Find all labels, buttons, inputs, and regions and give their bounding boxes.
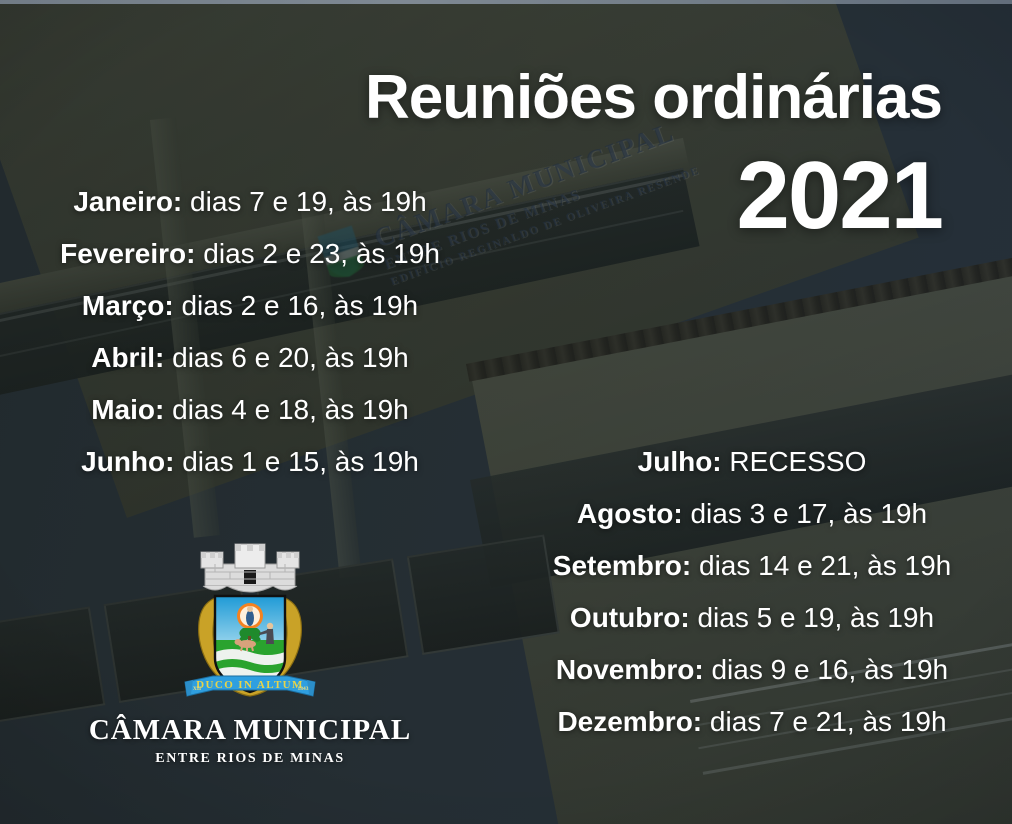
month-label: Outubro: xyxy=(570,602,690,633)
institution-subtitle: ENTRE RIOS DE MINAS xyxy=(0,751,500,767)
svg-text:1843: 1843 xyxy=(298,686,309,692)
month-label: Setembro: xyxy=(553,550,691,581)
month-detail: dias 4 e 18, às 19h xyxy=(172,394,409,425)
month-label: Março: xyxy=(82,290,174,321)
month-detail: dias 7 e 21, às 19h xyxy=(710,706,947,737)
schedule-row: Janeiro: dias 7 e 19, às 19h xyxy=(0,188,500,216)
schedule-row: Maio: dias 4 e 18, às 19h xyxy=(0,396,500,424)
schedule-row: Outubro: dias 5 e 19, às 19h xyxy=(496,604,1008,632)
institution-name: CÂMARA MUNICIPAL xyxy=(0,714,500,747)
svg-text:XII: XII xyxy=(193,686,201,692)
month-label: Fevereiro: xyxy=(60,238,195,269)
month-detail: dias 5 e 19, às 19h xyxy=(697,602,934,633)
month-detail: dias 6 e 20, às 19h xyxy=(172,342,409,373)
month-detail: dias 2 e 16, às 19h xyxy=(181,290,418,321)
svg-text:DUCO IN ALTUM: DUCO IN ALTUM xyxy=(196,679,304,691)
schedule-row: Abril: dias 6 e 20, às 19h xyxy=(0,344,500,372)
month-detail: dias 2 e 23, às 19h xyxy=(203,238,440,269)
month-detail: dias 7 e 19, às 19h xyxy=(190,186,427,217)
month-detail: dias 1 e 15, às 19h xyxy=(182,446,419,477)
month-label: Dezembro: xyxy=(557,706,702,737)
month-label: Novembro: xyxy=(556,654,704,685)
schedule-row: Novembro: dias 9 e 16, às 19h xyxy=(496,656,1008,684)
poster-content: Reuniões ordinárias 2021 Janeiro: dias 7… xyxy=(0,0,1012,824)
month-detail: dias 9 e 16, às 19h xyxy=(711,654,948,685)
schedule-row: Junho: dias 1 e 15, às 19h xyxy=(0,448,500,476)
schedule-row: Março: dias 2 e 16, às 19h xyxy=(0,292,500,320)
month-label: Junho: xyxy=(81,446,174,477)
month-label: Julho: xyxy=(638,446,722,477)
schedule-row: Agosto: dias 3 e 17, às 19h xyxy=(496,500,1008,528)
coat-of-arms-icon: DUCO IN ALTUM XII 1843 xyxy=(175,540,325,710)
mural-crown-icon xyxy=(201,544,299,592)
month-label: Janeiro: xyxy=(73,186,182,217)
schedule-column-right: Julho: RECESSO Agosto: dias 3 e 17, às 1… xyxy=(496,448,1008,760)
top-edge-strip xyxy=(0,0,1012,4)
schedule-column-left: Janeiro: dias 7 e 19, às 19h Fevereiro: … xyxy=(0,188,500,500)
schedule-row: Setembro: dias 14 e 21, às 19h xyxy=(496,552,1008,580)
month-detail: dias 14 e 21, às 19h xyxy=(699,550,951,581)
schedule-row: Fevereiro: dias 2 e 23, às 19h xyxy=(0,240,500,268)
schedule-row: Dezembro: dias 7 e 21, às 19h xyxy=(496,708,1008,736)
institution-logo: DUCO IN ALTUM XII 1843 CÂMARA MUNICIPAL … xyxy=(0,540,500,767)
month-detail: RECESSO xyxy=(729,446,866,477)
month-detail: dias 3 e 17, às 19h xyxy=(690,498,927,529)
page-title: Reuniões ordinárias xyxy=(42,66,942,129)
poster-canvas: CÂMARA MUNICIPAL ENTRE RIOS DE MINAS EDI… xyxy=(0,0,1012,824)
month-label: Agosto: xyxy=(577,498,683,529)
schedule-row: Julho: RECESSO xyxy=(496,448,1008,476)
month-label: Maio: xyxy=(91,394,164,425)
month-label: Abril: xyxy=(91,342,164,373)
